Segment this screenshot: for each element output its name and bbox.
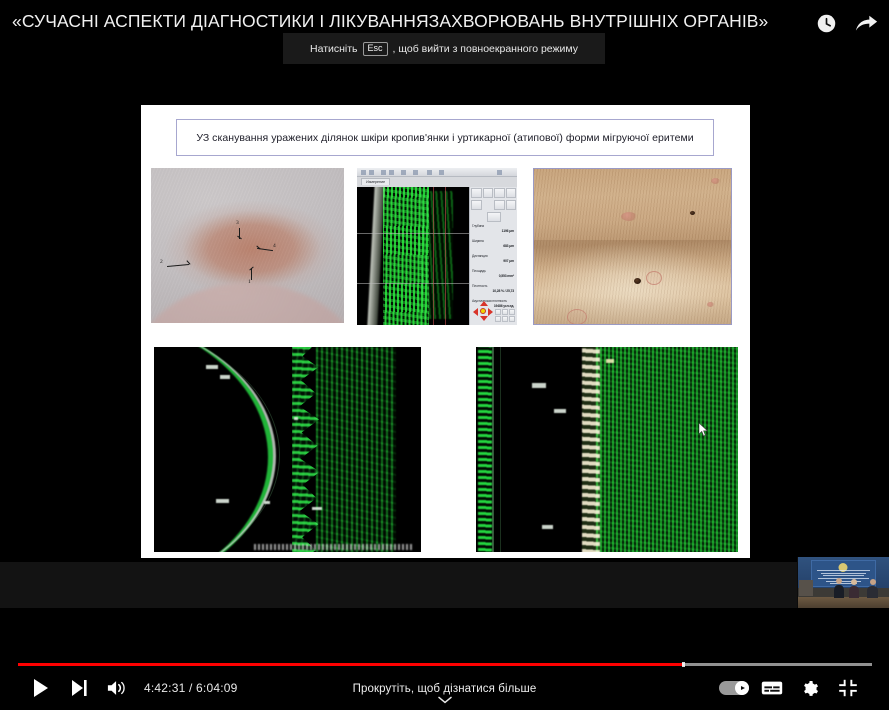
measure-distance: Дистанция907 μm [472,255,515,258]
pip-person [834,585,844,598]
ultrasound-scan-view [357,187,469,325]
next-track-icon [71,680,88,696]
watch-later-button[interactable] [813,10,839,36]
video-title: «СУЧАСНІ АСПЕКТИ ДІАГНОСТИКИ І ЛІКУВАННЯ… [12,11,802,32]
current-time: 4:42:31 [144,681,185,695]
measure-area: Площадь0,553 mm² [472,270,515,273]
left-controls[interactable]: 4:42:31 / 6:04:09 [22,669,237,707]
time-display: 4:42:31 / 6:04:09 [144,681,237,695]
share-button[interactable] [853,10,879,36]
autoplay-pill-icon [719,681,749,695]
pip-person [867,586,878,598]
duration: 6:04:09 [196,681,237,695]
subtitles-icon [761,680,783,696]
exit-fullscreen-hint: Натисніть Esc , щоб вийти з повноекранно… [283,33,605,64]
secondary-interface-line [500,347,501,552]
figure-skin-wide-photo [533,168,732,325]
presenter-pip-thumbnail[interactable] [797,557,889,608]
mouse-cursor [699,423,709,437]
autoplay-toggle[interactable] [715,669,753,707]
player-controls[interactable]: 4:42:31 / 6:04:09 [0,666,889,710]
skin-surface-echo [478,347,492,552]
measure-depth: Глубина1196 μm [472,225,515,228]
tool-button-row-2[interactable] [470,199,517,211]
skin-ring-lesion [567,309,587,325]
ruler-tool-icon[interactable] [494,200,505,210]
share-icon [855,13,878,34]
slide-title-box: УЗ сканування уражених ділянок шкіри кро… [176,119,714,156]
pip-person [849,586,859,598]
pip-banner [811,560,877,587]
select-tool-icon[interactable] [506,200,517,210]
measure-width: Ширина683 μm [472,240,515,243]
next-video-button[interactable] [60,669,98,707]
grid-tool-icon[interactable] [471,200,482,210]
figure-ultrasound-software: Измерение [357,168,517,325]
gear-icon [801,679,820,698]
play-button[interactable] [22,669,60,707]
numeric-keypad[interactable] [495,309,515,322]
deep-dermis-layer [419,191,453,319]
lesion-marker-4: 4 [273,244,276,250]
right-controls[interactable] [715,669,867,707]
esc-key-cap: Esc [363,42,388,56]
exit-fullscreen-icon [838,678,858,698]
measurement-panel: Глубина1196 μm Ширина683 μm Дистанция907… [469,187,517,325]
volume-icon [107,679,127,697]
pip-side-object [799,580,814,595]
figure-ultrasound-scan-left [154,347,421,552]
dpad-control[interactable] [473,301,493,321]
caliper-tool-icon[interactable] [471,188,482,198]
time-separator: / [185,681,196,695]
volume-button[interactable] [98,669,136,707]
subtitles-button[interactable] [753,669,791,707]
measurement-tab[interactable]: Измерение [361,178,390,185]
letterbox-band [0,562,889,608]
presentation-slide: УЗ сканування уражених ділянок шкіри кро… [141,105,750,558]
exit-fullscreen-button[interactable] [829,669,867,707]
secondary-interface-line [154,347,280,552]
tool-button-row-1[interactable] [470,187,517,199]
lesion-marker-2: 2 [160,260,163,266]
top-action-bar[interactable] [813,10,879,36]
watch-later-icon [816,13,837,34]
youtube-player[interactable]: УЗ сканування уражених ділянок шкіри кро… [0,0,889,710]
figure-lesion-photo: 3 4 2 1 [151,168,344,323]
interface-line [492,347,494,552]
play-icon [33,679,49,697]
skin-mole [634,278,641,284]
slide-title: УЗ сканування уражених ділянок шкіри кро… [196,132,693,144]
settings-button[interactable] [791,669,829,707]
skin-mole [690,211,695,215]
link-tool-icon[interactable] [487,212,501,222]
area-tool-icon[interactable] [494,188,505,198]
figure-ultrasound-scan-right [476,347,738,552]
software-toolbar [357,168,517,177]
measure-density: Плотность10,28 % / 25,73 [472,285,515,288]
tool-button-row-3[interactable] [470,211,517,223]
lesion-marker-1: 1 [248,280,251,286]
pip-table [798,597,889,608]
lesion-marker-3: 3 [236,221,239,227]
dermis-echo-field [596,347,738,552]
spacer-icon [483,200,494,210]
autoplay-knob [735,681,749,695]
zoom-tool-icon[interactable] [506,188,517,198]
esc-hint-suffix: , щоб вийти з повноекранного режиму [393,43,578,55]
angle-tool-icon[interactable] [483,188,494,198]
video-stage[interactable]: УЗ сканування уражених ділянок шкіри кро… [0,0,889,710]
esc-hint-prefix: Натисніть [310,43,358,55]
deep-dermis-echo [316,347,396,552]
scan-footnote [254,544,412,550]
